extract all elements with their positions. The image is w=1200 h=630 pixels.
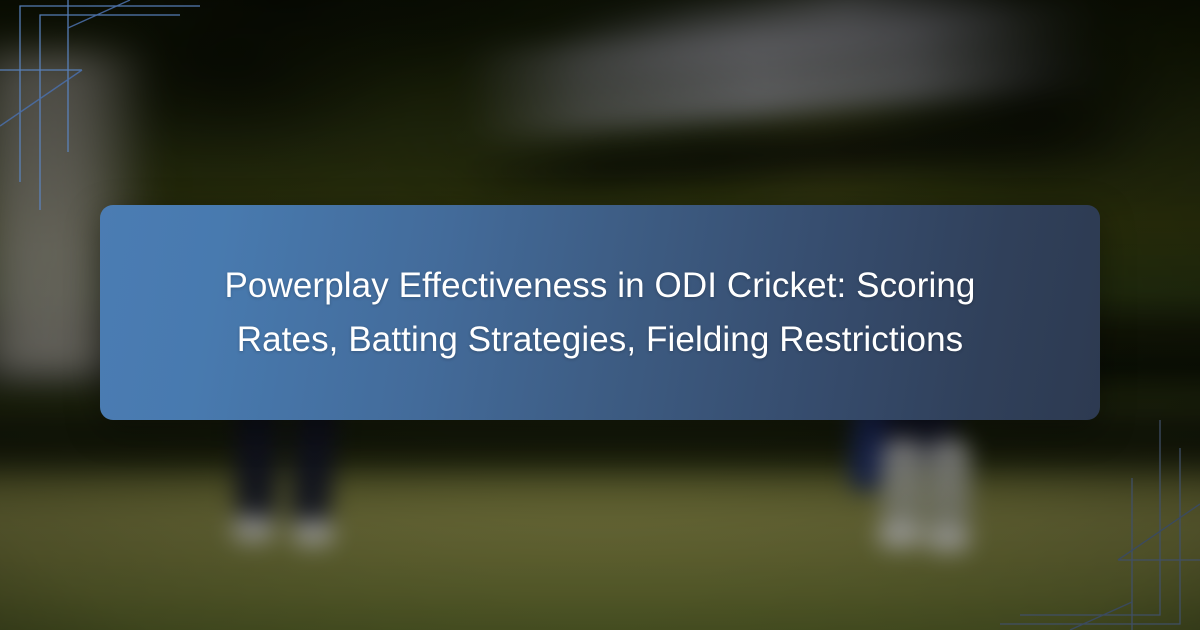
corner-diagonal-accent-lower-icon xyxy=(1070,602,1132,630)
corner-bracket-inner-icon xyxy=(40,15,180,210)
corner-decoration-top-left xyxy=(0,0,230,230)
corner-bracket-inner-icon xyxy=(1020,420,1160,615)
page-title: Powerplay Effectiveness in ODI Cricket: … xyxy=(200,259,1000,367)
corner-diagonal-accent-upper-icon xyxy=(1118,504,1200,560)
share-card-canvas: Powerplay Effectiveness in ODI Cricket: … xyxy=(0,0,1200,630)
corner-diagonal-accent-lower-icon xyxy=(0,70,82,126)
title-card: Powerplay Effectiveness in ODI Cricket: … xyxy=(100,205,1100,420)
corner-diagonal-accent-upper-icon xyxy=(68,0,130,28)
corner-decoration-bottom-right xyxy=(970,400,1200,630)
